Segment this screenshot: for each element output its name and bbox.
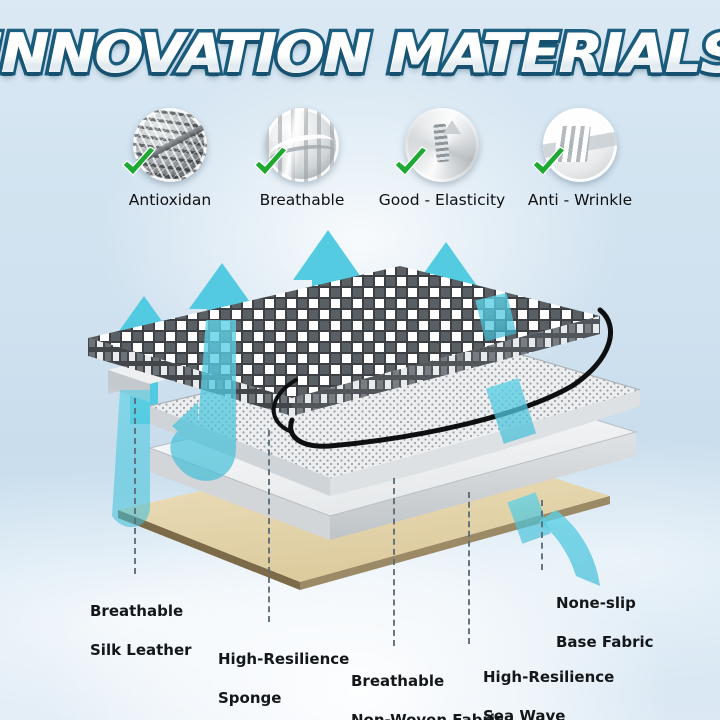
leader-line-sea-wave (468, 492, 470, 644)
leader-line-silk-leather (134, 398, 136, 574)
callout-non-woven-fabric: Breathable Non-Woven Fabric (351, 652, 504, 720)
callout-base-fabric-line2: Base Fabric (556, 633, 654, 653)
callout-base-fabric-line1: None-slip (556, 594, 654, 614)
feature-badge-good-elasticity[interactable] (405, 108, 479, 182)
feature-badge-breathable[interactable] (265, 108, 339, 182)
feature-label-good-elasticity: Good - Elasticity (372, 191, 512, 209)
check-icon (529, 144, 569, 184)
material-layer-stack (0, 210, 720, 630)
page-title-text: INNOVATION MATERIALS (0, 22, 720, 85)
callout-non-woven-fabric-line2: Non-Woven Fabric (351, 711, 504, 720)
feature-badge-antioxidan[interactable] (133, 108, 207, 182)
feature-badge-anti-wrinkle[interactable] (543, 108, 617, 182)
callout-silk-leather-line2: Silk Leather (90, 641, 192, 661)
feature-label-anti-wrinkle: Anti - Wrinkle (510, 191, 650, 209)
callout-sponge-line2: Sponge (218, 689, 349, 709)
callout-sponge-line1: High-Resilience (218, 650, 349, 670)
callout-base-fabric: None-slip Base Fabric (556, 574, 654, 673)
callout-silk-leather: Breathable Silk Leather (90, 582, 192, 681)
feature-label-antioxidan: Antioxidan (100, 191, 240, 209)
leader-line-non-woven-fabric (393, 478, 395, 646)
page-title: INNOVATION MATERIALS INNOVATION MATERIAL… (0, 22, 720, 85)
leader-line-base-fabric (541, 500, 543, 570)
check-icon (391, 144, 431, 184)
callout-non-woven-fabric-line1: Breathable (351, 672, 504, 692)
callout-silk-leather-line1: Breathable (90, 602, 192, 622)
leader-line-sponge (268, 430, 270, 622)
check-icon (251, 144, 291, 184)
infographic-canvas: INNOVATION MATERIALS INNOVATION MATERIAL… (0, 0, 720, 720)
callout-sponge: High-Resilience Sponge (218, 630, 349, 720)
callout-sea-wave-line2: Sea Wave (483, 707, 614, 720)
check-icon (119, 144, 159, 184)
feature-label-breathable: Breathable (232, 191, 372, 209)
